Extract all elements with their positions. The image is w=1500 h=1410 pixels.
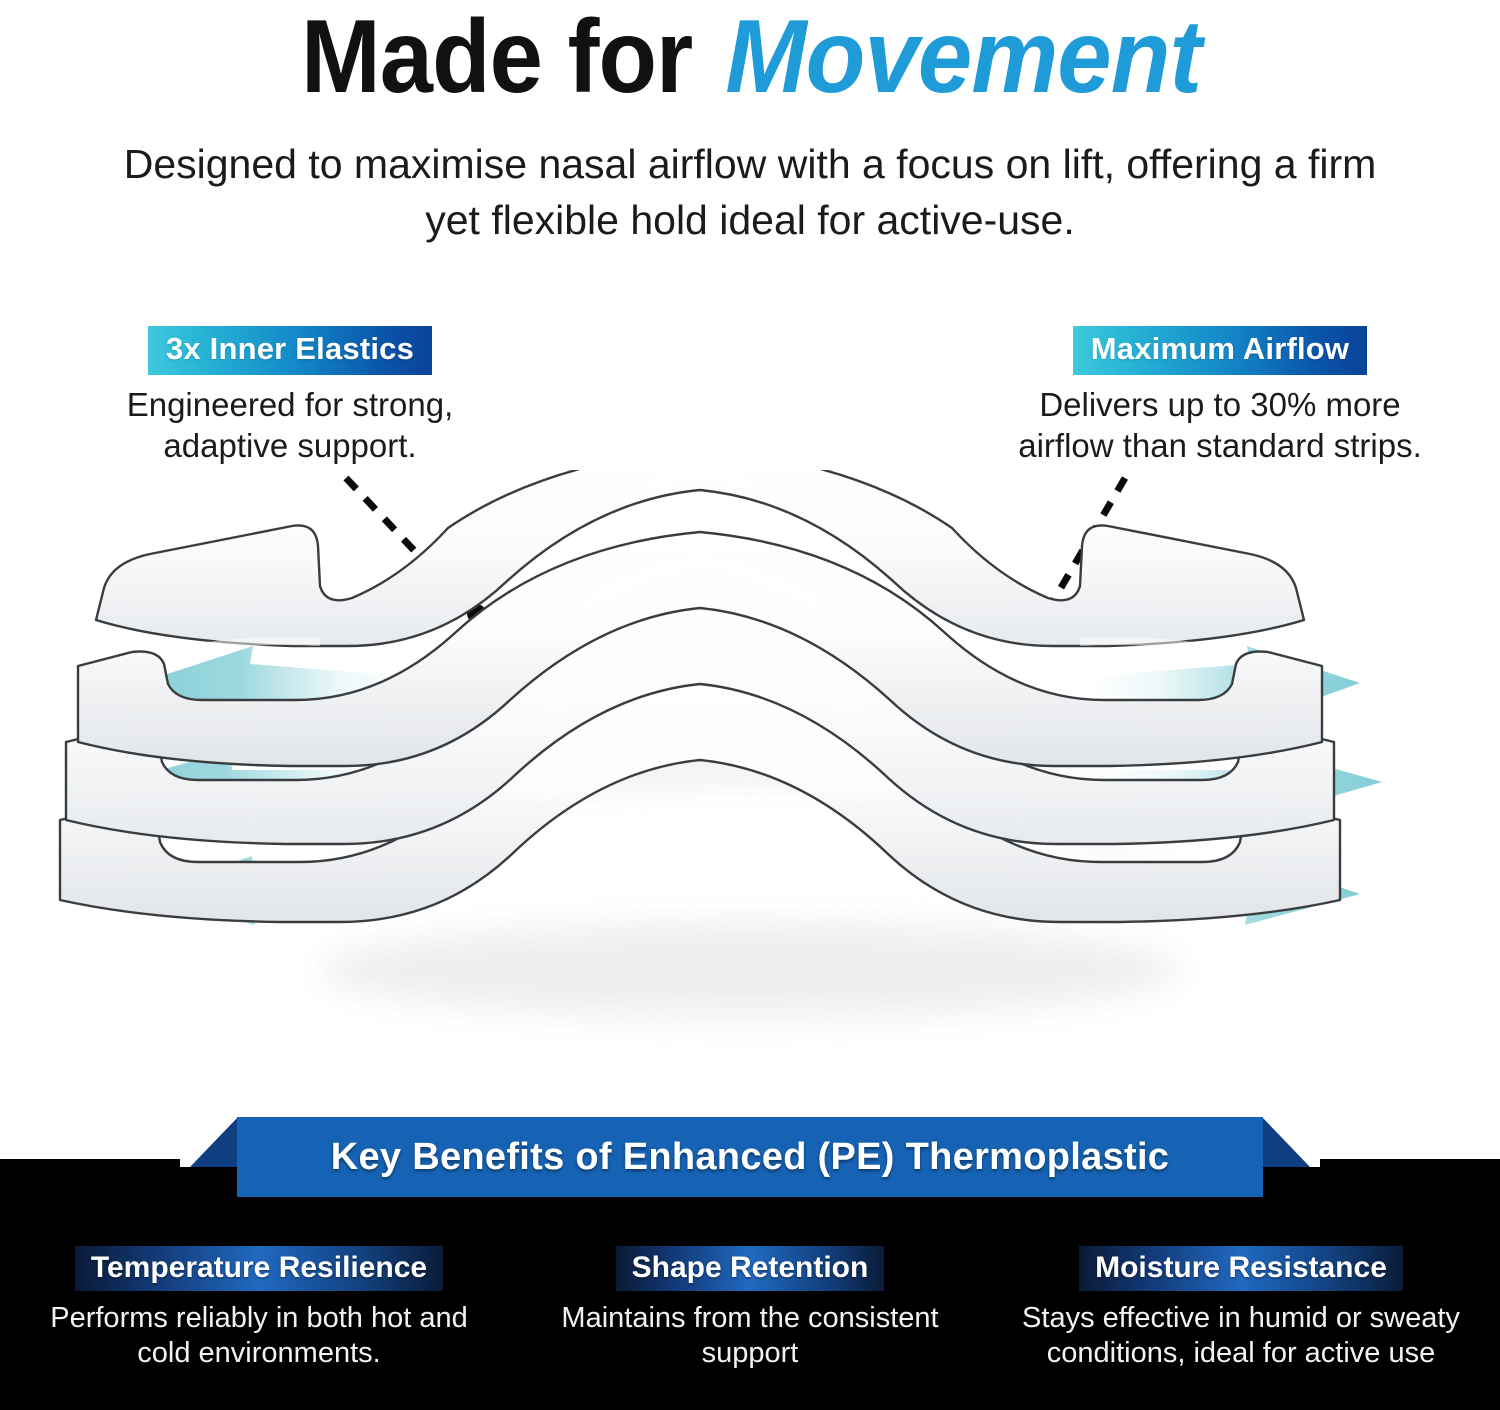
benefit-moisture-resistance: Moisture Resistance Stays effective in h…	[1006, 1246, 1476, 1371]
page-title-accent: Movement	[725, 4, 1201, 110]
page-title-primary: Made for	[301, 4, 692, 110]
page-subtitle: Designed to maximise nasal airflow with …	[100, 136, 1400, 248]
benefit-body-shape-retention: Maintains from the consistent support	[530, 1301, 970, 1371]
benefit-shape-retention: Shape Retention Maintains from the consi…	[530, 1246, 970, 1371]
callout-maximum-airflow: Maximum Airflow Delivers up to 30% more …	[990, 326, 1450, 466]
callout-inner-elastics: 3x Inner Elastics Engineered for strong,…	[60, 326, 520, 466]
benefits-row: Temperature Resilience Performs reliably…	[0, 1246, 1500, 1371]
benefit-body-moisture-resistance: Stays effective in humid or sweaty condi…	[1006, 1301, 1476, 1371]
infographic-canvas: Made for Movement Designed to maximise n…	[0, 0, 1500, 1410]
callout-body-inner-elastics: Engineered for strong, adaptive support.	[60, 384, 520, 466]
product-illustration	[0, 470, 1500, 1130]
benefits-ribbon	[180, 1117, 1320, 1197]
benefit-temperature-resilience: Temperature Resilience Performs reliably…	[24, 1246, 494, 1371]
benefit-badge-temperature-resilience: Temperature Resilience	[75, 1246, 443, 1291]
callout-body-maximum-airflow: Delivers up to 30% more airflow than sta…	[990, 384, 1450, 466]
callout-badge-maximum-airflow: Maximum Airflow	[1073, 326, 1368, 375]
benefit-body-temperature-resilience: Performs reliably in both hot and cold e…	[24, 1301, 494, 1371]
benefit-badge-moisture-resistance: Moisture Resistance	[1079, 1246, 1403, 1291]
benefit-badge-shape-retention: Shape Retention	[616, 1246, 885, 1291]
page-title: Made for Movement	[0, 4, 1500, 110]
callout-badge-inner-elastics: 3x Inner Elastics	[148, 326, 432, 375]
ribbon-body	[237, 1117, 1263, 1197]
